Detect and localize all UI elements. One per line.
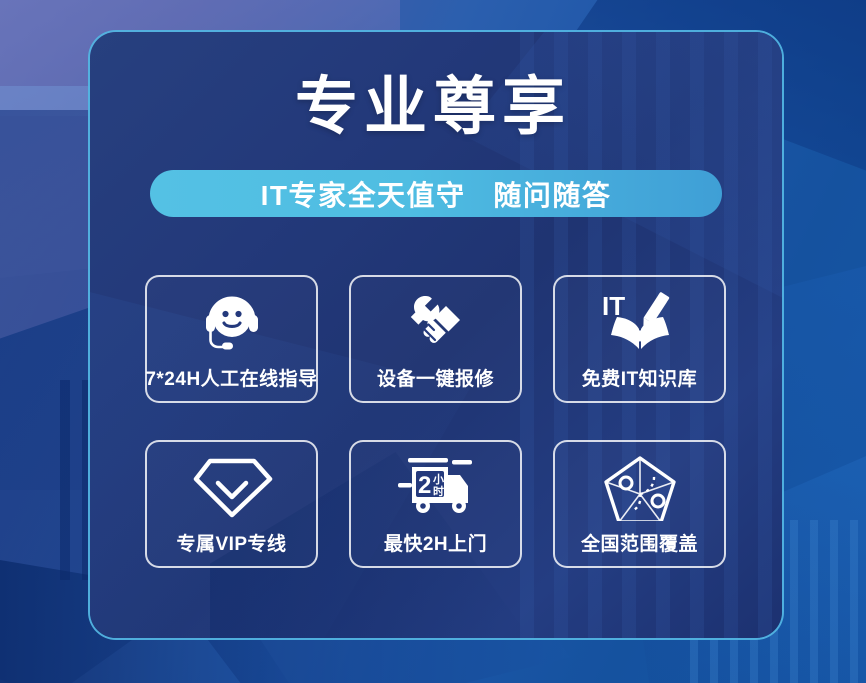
pentagon-network-coverage-icon (555, 450, 724, 524)
poster-canvas: 专业尊享 IT专家全天值守 随问随答 7*24H人工在线指 (0, 0, 866, 683)
feature-label: 7*24H人工在线指导 (145, 364, 317, 391)
feature-label: 最快2H上门 (384, 529, 487, 556)
feature-card-knowledge-base[interactable]: IT 免费IT知识库 (553, 275, 726, 403)
feature-label: 设备一键报修 (377, 364, 494, 391)
it-badge-text: IT (602, 291, 625, 321)
diamond-vip-icon (147, 450, 316, 524)
feature-card-onsite-2h[interactable]: 2 小 时 最快2H上门 (349, 440, 522, 568)
wrench-hand-repair-icon (351, 285, 520, 359)
feature-grid: 7*24H人工在线指导 设备一键报修 IT (145, 275, 733, 568)
feature-card-nationwide-coverage[interactable]: 全国范围覆盖 (553, 440, 726, 568)
book-pencil-it-icon: IT (555, 285, 724, 359)
truck-badge-hour-2: 时 (433, 484, 444, 498)
headset-support-icon (147, 285, 316, 359)
truck-badge-hour-1: 小 (432, 472, 444, 486)
feature-card-support[interactable]: 7*24H人工在线指导 (145, 275, 318, 403)
subtitle-banner: IT专家全天值守 随问随答 (150, 170, 722, 217)
subtitle-text: IT专家全天值守 随问随答 (261, 174, 612, 214)
feature-label: 专属VIP专线 (176, 529, 286, 556)
feature-label: 全国范围覆盖 (581, 529, 698, 556)
feature-card-vip-line[interactable]: 专属VIP专线 (145, 440, 318, 568)
page-title: 专业尊享 (0, 76, 866, 139)
truck-badge-number: 2 (418, 472, 431, 499)
feature-card-repair[interactable]: 设备一键报修 (349, 275, 522, 403)
delivery-truck-icon: 2 小 时 (351, 450, 520, 524)
feature-label: 免费IT知识库 (582, 364, 697, 391)
